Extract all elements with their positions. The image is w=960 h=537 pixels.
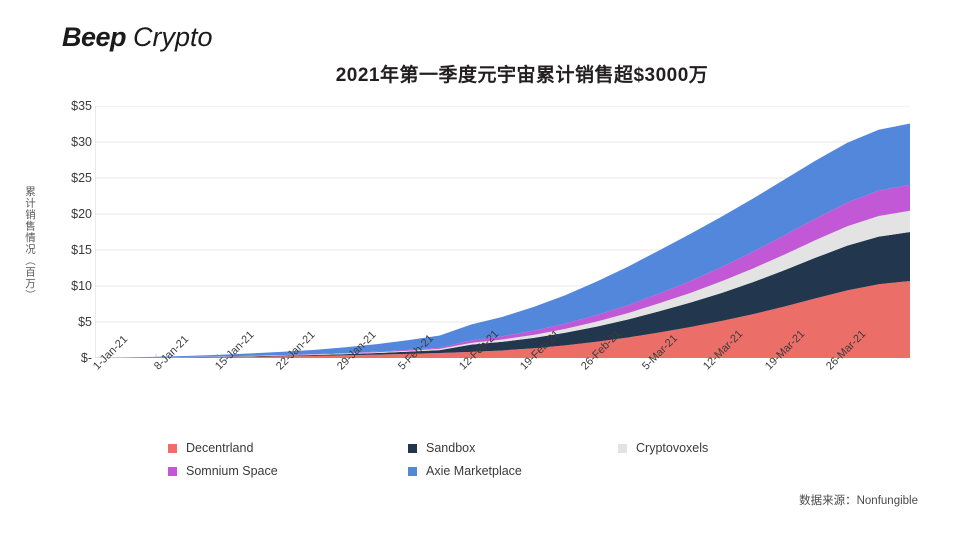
legend-label: Decentrland	[186, 441, 253, 455]
brand-name-light: Crypto	[133, 22, 213, 52]
y-tick-25: $25	[44, 172, 92, 185]
chart-page: BeepCrypto 2021年第一季度元宇宙累计销售超$3000万 累计销售情…	[0, 0, 960, 537]
legend-item-cryptovoxels[interactable]: Cryptovoxels	[618, 441, 708, 455]
legend-row-2: Somnium SpaceAxie Marketplace	[168, 464, 788, 487]
legend-label: Cryptovoxels	[636, 441, 708, 455]
y-tick-15: $15	[44, 244, 92, 257]
y-tick-5: $5	[44, 316, 92, 329]
chart-legend: DecentrlandSandboxCryptovoxels Somnium S…	[168, 441, 788, 487]
y-axis-title: 累计销售情况（百万）	[10, 168, 36, 318]
legend-swatch-icon	[408, 444, 417, 453]
legend-label: Axie Marketplace	[426, 464, 522, 478]
chart-plot-area	[95, 106, 910, 358]
legend-label: Somnium Space	[186, 464, 278, 478]
legend-swatch-icon	[168, 467, 177, 476]
legend-swatch-icon	[408, 467, 417, 476]
legend-swatch-icon	[168, 444, 177, 453]
data-source-note: 数据来源：Nonfungible	[799, 492, 918, 508]
legend-item-decentrland[interactable]: Decentrland	[168, 441, 253, 455]
y-tick-30: $30	[44, 136, 92, 149]
brand-name-bold: Beep	[62, 22, 126, 52]
legend-row-1: DecentrlandSandboxCryptovoxels	[168, 441, 788, 464]
legend-swatch-icon	[618, 444, 627, 453]
stacked-area-svg	[95, 106, 910, 358]
legend-item-somnium-space[interactable]: Somnium Space	[168, 464, 278, 478]
y-axis-tick-labels: $35$30$25$20$15$10$5$-	[44, 96, 92, 368]
y-tick-35: $35	[44, 100, 92, 113]
legend-label: Sandbox	[426, 441, 475, 455]
legend-item-sandbox[interactable]: Sandbox	[408, 441, 475, 455]
y-tick-10: $10	[44, 280, 92, 293]
brand-logo: BeepCrypto	[62, 24, 213, 51]
x-axis-tick-labels: 1-Jan-218-Jan-2115-Jan-2122-Jan-2129-Jan…	[0, 358, 960, 438]
legend-item-axie-marketplace[interactable]: Axie Marketplace	[408, 464, 522, 478]
chart-title: 2021年第一季度元宇宙累计销售超$3000万	[0, 60, 960, 87]
chart-title-text: 2021年第一季度元宇宙累计销售超$3000万	[336, 60, 709, 87]
y-tick-20: $20	[44, 208, 92, 221]
